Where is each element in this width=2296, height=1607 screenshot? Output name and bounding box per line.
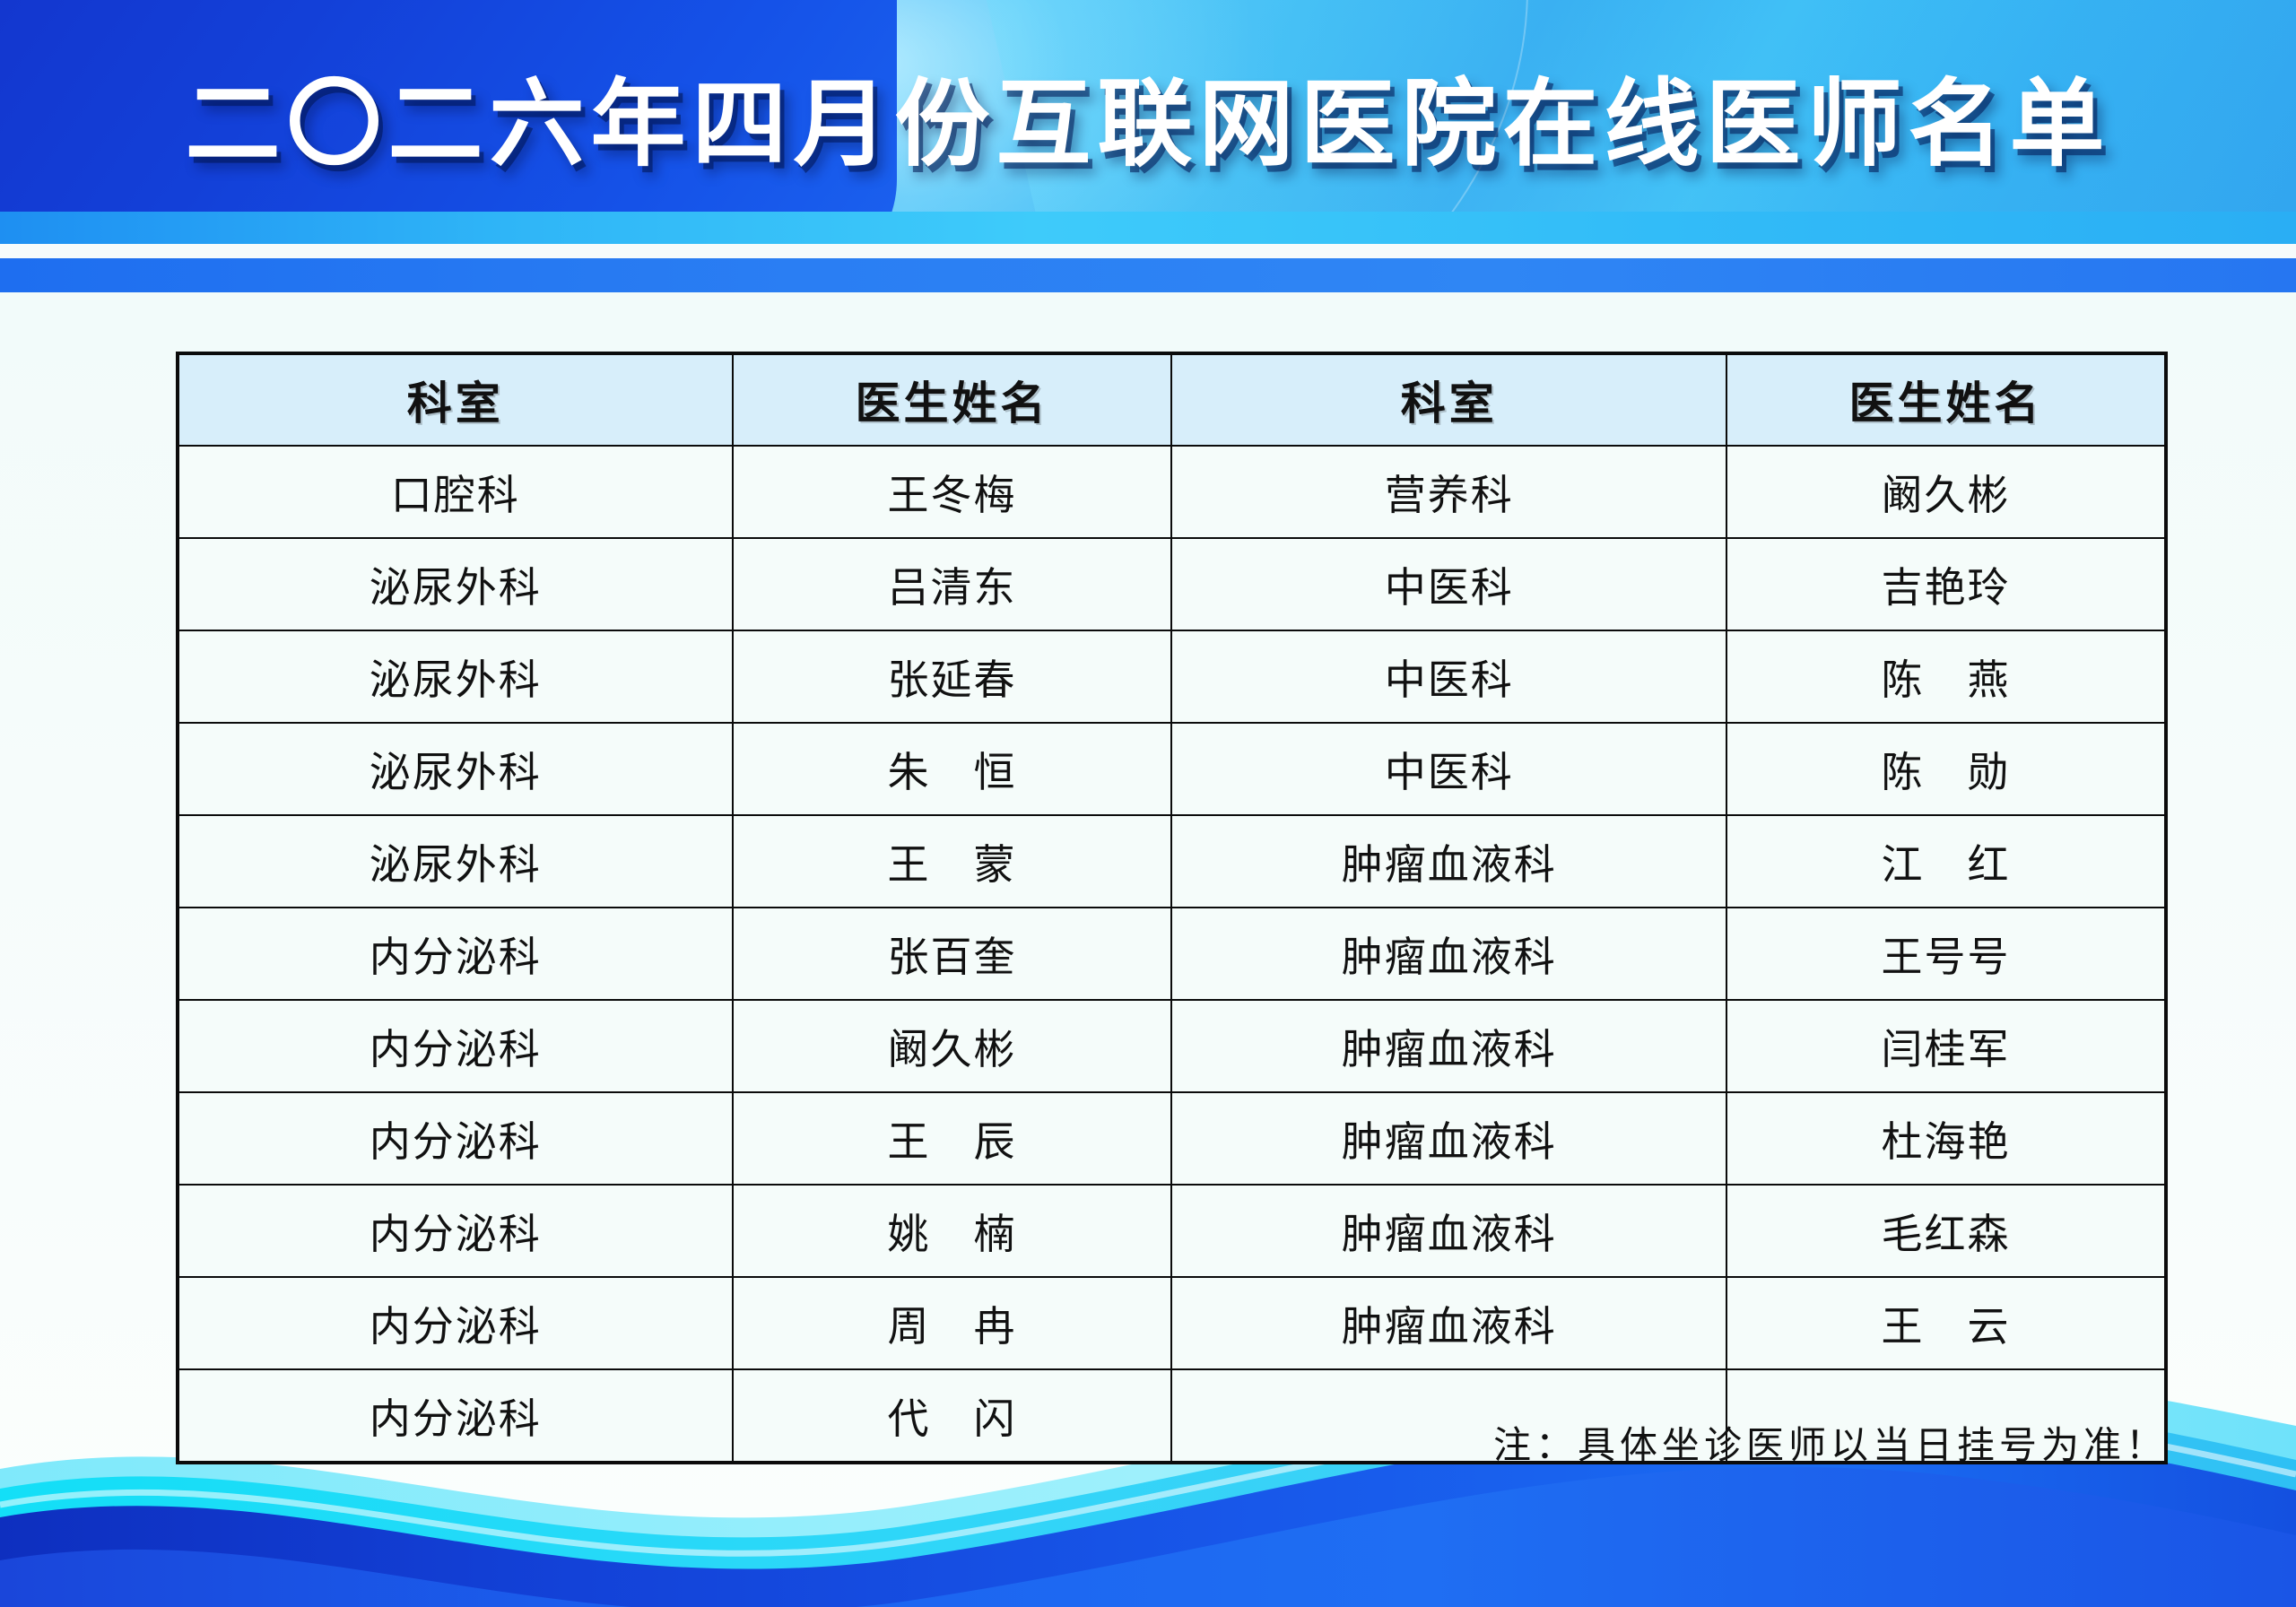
cell-doctor-name-right: 毛红森 xyxy=(1726,1185,2166,1277)
banner-cyan-bar xyxy=(0,212,2296,244)
table-row: 泌尿外科 朱 恒 中医科 陈 勋 xyxy=(178,723,2166,815)
cell-doctor-name-left: 王 蒙 xyxy=(733,815,1172,908)
cell-doctor-name-left: 吕清东 xyxy=(733,538,1172,630)
roster-table-container: 科室 医生姓名 科室 医生姓名 口腔科 王冬梅 营养科 阚久彬 泌尿外科 吕清东… xyxy=(176,352,2168,1464)
cell-doctor-name-left: 王 辰 xyxy=(733,1092,1172,1185)
cell-doctor-name-right: 王号号 xyxy=(1726,908,2166,1000)
cell-department-right: 中医科 xyxy=(1171,538,1726,630)
cell-department-right: 中医科 xyxy=(1171,630,1726,723)
column-header-department-right: 科室 xyxy=(1171,353,1726,446)
column-header-department-left: 科室 xyxy=(178,353,733,446)
cell-doctor-name-right: 陈 勋 xyxy=(1726,723,2166,815)
cell-department-left: 口腔科 xyxy=(178,446,733,538)
table-row: 内分泌科 周 冉 肿瘤血液科 王 云 xyxy=(178,1277,2166,1369)
cell-department-left: 内分泌科 xyxy=(178,908,733,1000)
cell-doctor-name-left: 王冬梅 xyxy=(733,446,1172,538)
table-row: 泌尿外科 吕清东 中医科 吉艳玲 xyxy=(178,538,2166,630)
table-row: 内分泌科 王 辰 肿瘤血液科 杜海艳 xyxy=(178,1092,2166,1185)
cell-doctor-name-right: 杜海艳 xyxy=(1726,1092,2166,1185)
cell-doctor-name-left: 代 闪 xyxy=(733,1369,1172,1463)
doctor-roster-table: 科室 医生姓名 科室 医生姓名 口腔科 王冬梅 营养科 阚久彬 泌尿外科 吕清东… xyxy=(176,352,2168,1464)
cell-department-right: 营养科 xyxy=(1171,446,1726,538)
cell-department-left: 泌尿外科 xyxy=(178,815,733,908)
table-row: 内分泌科 姚 楠 肿瘤血液科 毛红森 xyxy=(178,1185,2166,1277)
table-row: 内分泌科 阚久彬 肿瘤血液科 闫桂军 xyxy=(178,1000,2166,1092)
cell-doctor-name-left: 周 冉 xyxy=(733,1277,1172,1369)
column-header-doctor-name-right: 医生姓名 xyxy=(1726,353,2166,446)
cell-department-left: 泌尿外科 xyxy=(178,723,733,815)
cell-doctor-name-right: 吉艳玲 xyxy=(1726,538,2166,630)
cell-department-left: 内分泌科 xyxy=(178,1000,733,1092)
cell-doctor-name-right: 陈 燕 xyxy=(1726,630,2166,723)
table-row: 内分泌科 张百奎 肿瘤血液科 王号号 xyxy=(178,908,2166,1000)
table-header-row: 科室 医生姓名 科室 医生姓名 xyxy=(178,353,2166,446)
cell-doctor-name-left: 张延春 xyxy=(733,630,1172,723)
table-row: 泌尿外科 王 蒙 肿瘤血液科 江 红 xyxy=(178,815,2166,908)
cell-doctor-name-right: 闫桂军 xyxy=(1726,1000,2166,1092)
cell-doctor-name-left: 姚 楠 xyxy=(733,1185,1172,1277)
cell-department-right: 肿瘤血液科 xyxy=(1171,1000,1726,1092)
cell-department-right: 肿瘤血液科 xyxy=(1171,908,1726,1000)
cell-department-left: 泌尿外科 xyxy=(178,630,733,723)
table-row: 泌尿外科 张延春 中医科 陈 燕 xyxy=(178,630,2166,723)
cell-doctor-name-left: 张百奎 xyxy=(733,908,1172,1000)
table-header: 科室 医生姓名 科室 医生姓名 xyxy=(178,353,2166,446)
cell-doctor-name-left: 阚久彬 xyxy=(733,1000,1172,1092)
cell-department-right: 肿瘤血液科 xyxy=(1171,1185,1726,1277)
column-header-doctor-name-left: 医生姓名 xyxy=(733,353,1172,446)
cell-department-left: 内分泌科 xyxy=(178,1277,733,1369)
page-title: 二〇二六年四月份互联网医院在线医师名单 xyxy=(0,70,2296,179)
cell-department-left: 内分泌科 xyxy=(178,1369,733,1463)
cell-doctor-name-right: 王 云 xyxy=(1726,1277,2166,1369)
banner-white-gap xyxy=(0,244,2296,258)
poster-canvas: 二〇二六年四月份互联网医院在线医师名单 科室 医生姓名 科室 医生姓名 口腔科 … xyxy=(0,0,2296,1607)
footnote-text: 注：具体坐诊医师以当日挂号为准！ xyxy=(1493,1415,2168,1470)
cell-doctor-name-right: 江 红 xyxy=(1726,815,2166,908)
cell-department-right: 肿瘤血液科 xyxy=(1171,1092,1726,1185)
table-row: 口腔科 王冬梅 营养科 阚久彬 xyxy=(178,446,2166,538)
cell-doctor-name-left: 朱 恒 xyxy=(733,723,1172,815)
cell-doctor-name-right: 阚久彬 xyxy=(1726,446,2166,538)
cell-department-left: 泌尿外科 xyxy=(178,538,733,630)
cell-department-left: 内分泌科 xyxy=(178,1185,733,1277)
cell-department-right: 肿瘤血液科 xyxy=(1171,1277,1726,1369)
cell-department-right: 肿瘤血液科 xyxy=(1171,815,1726,908)
table-body: 口腔科 王冬梅 营养科 阚久彬 泌尿外科 吕清东 中医科 吉艳玲 泌尿外科 张延… xyxy=(178,446,2166,1463)
cell-department-left: 内分泌科 xyxy=(178,1092,733,1185)
cell-department-right: 中医科 xyxy=(1171,723,1726,815)
banner-blue-rule xyxy=(0,258,2296,292)
